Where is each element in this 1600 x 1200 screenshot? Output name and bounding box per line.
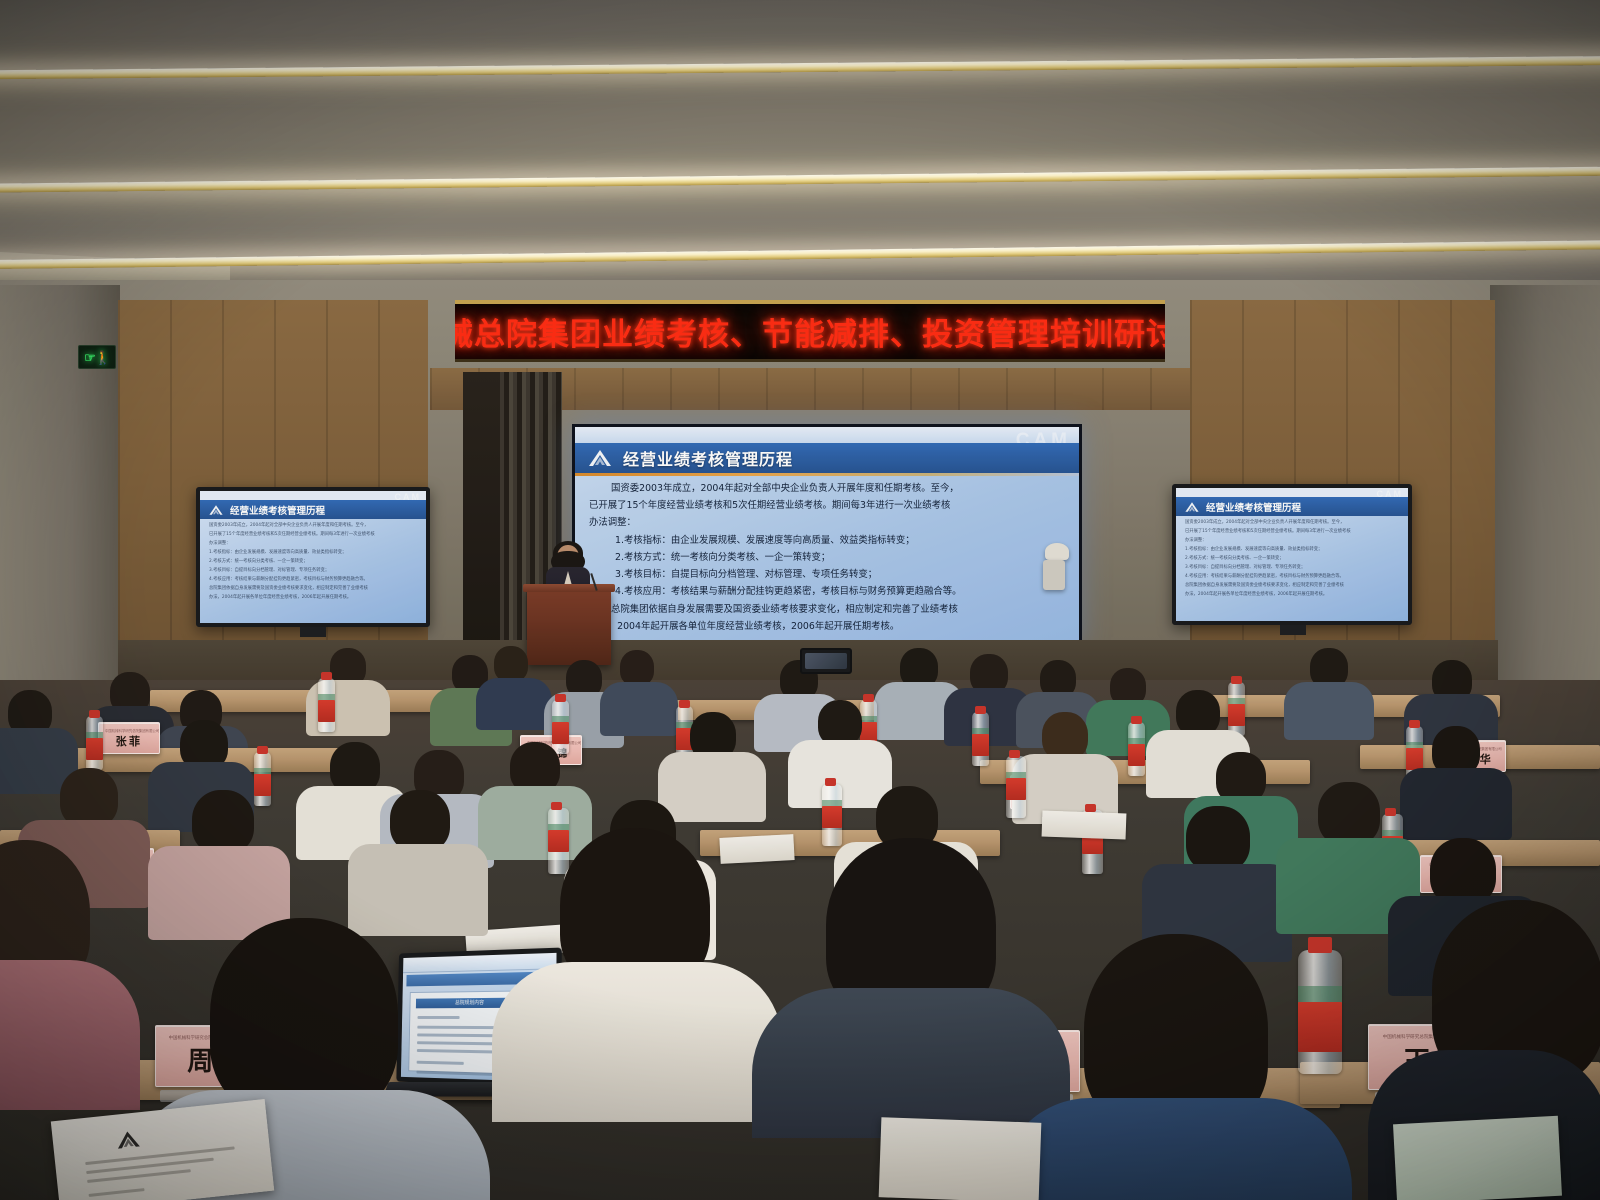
mini-title-bar-right: 经营业绩考核管理历程 (1176, 497, 1408, 516)
ceiling-light-strip (0, 166, 1600, 193)
water-bottle (1298, 950, 1342, 1074)
handout-paper (1042, 811, 1127, 840)
slide-list-item: 1.考核指标：由企业发展规模、发展速度等向高质量、效益类指标转变； (589, 533, 1067, 548)
name-plate: 中国机械科学研究总院集团有限公司 张菲 (98, 722, 160, 754)
mini-closing: 总院集团依据自身发展需要及国资委业绩考核要求变化，相应制定和完善了业绩考核 (209, 585, 419, 593)
mini-item: 1.考核指标：由企业发展规模、发展速度等向高质量、效益类指标转变； (209, 549, 419, 557)
mini-closing: 办法，2004年起开展各单位年度经营业绩考核，2006年起开展任期考核。 (1185, 591, 1401, 599)
exit-sign-glyph: ☞🚶 (84, 351, 110, 364)
water-bottle (1128, 722, 1145, 776)
monitor-stand-left (300, 627, 326, 637)
mini-slide-body-left: 国资委2003年成立，2004年起对全部中央企业负责人开展年度和任期考核。至今，… (209, 522, 419, 617)
audience-torso (658, 752, 766, 822)
side-monitor-left: CAM 经营业绩考核管理历程 国资委2003年成立，2004年起对全部中央企业负… (196, 487, 430, 627)
water-bottle (548, 808, 569, 874)
camera-icon (1045, 543, 1069, 560)
slide-paragraph: 国资委2003年成立，2004年起对全部中央企业负责人开展年度和任期考核。至今， (589, 481, 1067, 496)
company-logo-icon (208, 504, 224, 516)
slide-body: 国资委2003年成立，2004年起对全部中央企业负责人开展年度和任期考核。至今，… (589, 481, 1067, 637)
conference-room-photo: ☞🚶 机械总院集团业绩考核、节能减排、投资管理培训研讨会 CAM 经营业绩考核管… (0, 0, 1600, 1200)
led-banner: 机械总院集团业绩考核、节能减排、投资管理培训研讨会 (455, 300, 1165, 362)
mini-item: 3.考核目标：自提目标向分档管理、对标管理、专项任务转变； (209, 567, 419, 575)
lectern (527, 589, 611, 665)
water-bottle (254, 752, 271, 806)
foreground-head (210, 918, 398, 1118)
mini-item: 1.考核指标：由企业发展规模、发展速度等向高质量、效益类指标转变； (1185, 546, 1401, 554)
audience-torso (600, 682, 678, 736)
audience-head (1318, 782, 1380, 846)
mini-slide-title-left: 经营业绩考核管理历程 (230, 503, 325, 517)
company-logo-icon (1184, 501, 1200, 513)
mini-paragraph: 已开展了15个年度经营业绩考核和5次任期经营业绩考核。期间每3年进行一次业绩考核 (209, 531, 419, 539)
mini-closing: 总院集团依据自身发展需要及国资委业绩考核要求变化，相应制定和完善了业绩考核 (1185, 582, 1401, 590)
foreground-torso (0, 960, 140, 1110)
mini-closing: 办法，2004年起开展各单位年度经营业绩考核，2006年起开展任期考核。 (209, 594, 419, 602)
mini-item: 4.考核应用：考核结果与薪酬分配挂钩更趋紧密，考核目标与财务预算更趋融合等。 (1185, 573, 1401, 581)
water-bottle (86, 716, 103, 770)
audience-torso (478, 786, 592, 860)
water-bottle (552, 700, 569, 754)
foreground-torso (1000, 1098, 1352, 1200)
mini-paragraph: 办法调整： (209, 540, 419, 548)
wall-speaker (1043, 560, 1065, 590)
mini-item: 2.考核方式：统一考核向分类考核、一企一策转变； (1185, 555, 1401, 563)
main-projection-screen: CAM 经营业绩考核管理历程 国资委2003年成立，2004年起对全部中央企业负… (572, 424, 1082, 646)
slide-title: 经营业绩考核管理历程 (623, 446, 793, 470)
slide-list-item: 3.考核目标：自提目标向分档管理、对标管理、专项任务转变； (589, 567, 1067, 582)
water-bottle (1228, 682, 1245, 736)
water-bottle (1006, 756, 1026, 818)
ceiling-light-strip (0, 240, 1600, 270)
notebook (1393, 1116, 1562, 1200)
water-bottle (318, 678, 335, 732)
mini-top-band (200, 491, 426, 500)
mini-item: 4.考核应用：考核结果与薪酬分配挂钩更趋紧密，考核目标与财务预算更趋融合等。 (209, 576, 419, 584)
presentation-slide: CAM 经营业绩考核管理历程 国资委2003年成立，2004年起对全部中央企业负… (575, 427, 1079, 643)
slide-paragraph: 已开展了15个年度经营业绩考核和5次任期经营业绩考核。期间每3年进行一次业绩考核 (589, 498, 1067, 513)
audience-torso (1284, 682, 1374, 740)
mini-slide-body-right: 国资委2003年成立，2004年起对全部中央企业负责人开展年度和任期考核。至今，… (1185, 519, 1401, 615)
lectern-top (523, 584, 615, 592)
audience-torso (348, 844, 488, 936)
slide-closing: 办法，2004年起开展各单位年度经营业绩考核，2006年起开展任期考核。 (589, 619, 1067, 634)
side-monitor-left-slide: CAM 经营业绩考核管理历程 国资委2003年成立，2004年起对全部中央企业负… (200, 491, 426, 623)
smartphone-icon (800, 648, 852, 674)
led-banner-text: 机械总院集团业绩考核、节能减排、投资管理培训研讨会 (455, 309, 1165, 354)
mini-item: 3.考核目标：自提目标向分档管理、对标管理、专项任务转变； (1185, 564, 1401, 572)
mini-paragraph: 国资委2003年成立，2004年起对全部中央企业负责人开展年度和任期考核。至今， (1185, 519, 1401, 527)
name-plate-name: 张菲 (99, 733, 159, 749)
ceiling (0, 0, 1600, 300)
slide-paragraph: 办法调整： (589, 515, 1067, 530)
audience-head (390, 790, 450, 852)
mini-paragraph: 已开展了15个年度经营业绩考核和5次任期经营业绩考核。期间每3年进行一次业绩考核 (1185, 528, 1401, 536)
mini-slide-title-right: 经营业绩考核管理历程 (1206, 500, 1301, 514)
mini-top-band (1176, 488, 1408, 497)
audience-head (1042, 712, 1088, 760)
mini-title-bar-left: 经营业绩考核管理历程 (200, 500, 426, 519)
audience-head (1186, 806, 1250, 872)
ceiling-light-strip (0, 56, 1600, 80)
mini-paragraph: 办法调整： (1185, 537, 1401, 545)
slide-accent-rule (575, 473, 1079, 476)
handout-document (879, 1117, 1042, 1200)
audience-head (60, 768, 118, 828)
water-bottle (822, 784, 842, 846)
handout-paper (719, 834, 794, 864)
company-logo-icon (114, 1128, 142, 1151)
side-monitor-right: CAM 经营业绩考核管理历程 国资委2003年成立，2004年起对全部中央企业负… (1172, 484, 1412, 625)
audience-head (620, 650, 654, 686)
audience-torso (476, 678, 552, 730)
water-bottle (972, 712, 989, 766)
audience-head (192, 790, 254, 854)
slide-closing: 总院集团依据自身发展需要及国资委业绩考核要求变化，相应制定和完善了业绩考核 (589, 602, 1067, 617)
foreground-torso (752, 988, 1070, 1138)
wall-column-right (1490, 285, 1600, 705)
name-plate-org: 中国机械科学研究总院集团有限公司 (99, 728, 159, 733)
laptop-toolbar (403, 953, 556, 973)
foreground-torso (492, 962, 782, 1122)
slide-list-item: 2.考核方式：统一考核向分类考核、一企一策转变； (589, 550, 1067, 565)
slide-list-item: 4.考核应用：考核结果与薪酬分配挂钩更趋紧密，考核目标与财务预算更趋融合等。 (589, 584, 1067, 599)
slide-title-bar: 经营业绩考核管理历程 (575, 443, 1079, 473)
monitor-stand-right (1280, 625, 1306, 635)
mini-item: 2.考核方式：统一考核向分类考核、一企一策转变； (209, 558, 419, 566)
mini-paragraph: 国资委2003年成立，2004年起对全部中央企业负责人开展年度和任期考核。至今， (209, 522, 419, 530)
audience-torso (1400, 768, 1512, 840)
company-logo-icon (587, 448, 613, 468)
slide-top-band (575, 427, 1079, 443)
side-monitor-right-slide: CAM 经营业绩考核管理历程 国资委2003年成立，2004年起对全部中央企业负… (1176, 488, 1408, 621)
emergency-exit-icon: ☞🚶 (78, 345, 116, 369)
audience-head (494, 646, 528, 682)
